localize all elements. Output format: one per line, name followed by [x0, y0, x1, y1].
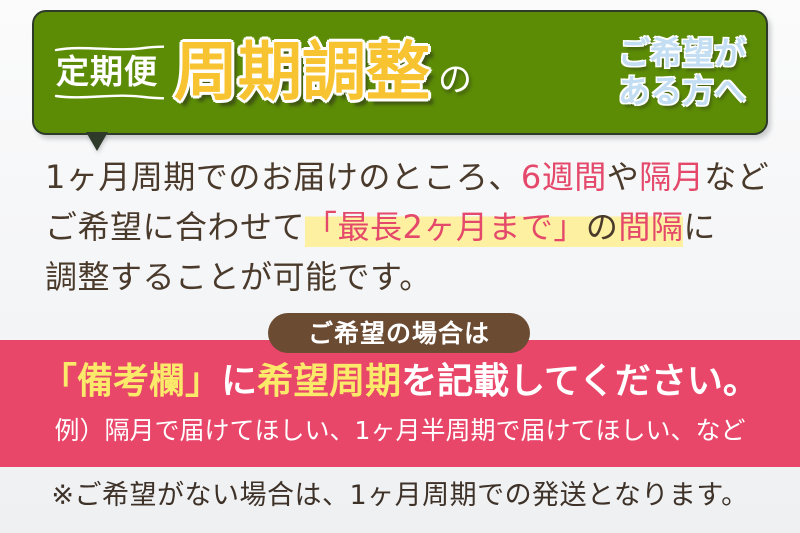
header-subtitle-group: ご希望が ある方へ [618, 35, 752, 109]
instruction-seg2: に [221, 361, 257, 402]
body-line1-seg3: や [607, 158, 640, 196]
body-line1-accent-everyothermonth: 隔月 [639, 158, 704, 196]
header-banner: 定期便 周期調整 の ご希望が ある方へ [32, 10, 768, 135]
subscription-tag-label: 定期便 [56, 55, 158, 88]
wave-rule-top-icon [54, 44, 164, 53]
instruction-emphasis-remarks: 「備考欄」 [41, 361, 221, 402]
body-line-2: ご希望に合わせて「最長2ヶ月まで」の間隔に [45, 202, 765, 252]
body-line1-seg5: など [704, 158, 769, 196]
instruction-emphasis-cycle: 希望周期 [257, 361, 401, 402]
body-line1-accent-6weeks: 6週間 [521, 158, 607, 196]
body-paragraph: 1ヶ月周期でのお届けのところ、6週間や隔月など ご希望に合わせて「最長2ヶ月まで… [45, 152, 765, 302]
body-line2-highlight-interval: 間隔 [618, 208, 683, 247]
instruction-band: 「備考欄」に希望周期を記載してください。 例）隔月で届けてほしい、1ヶ月半周期で… [0, 340, 800, 467]
instruction-headline: 「備考欄」に希望周期を記載してください。 [0, 364, 800, 400]
request-badge: ご希望の場合は [268, 313, 530, 353]
body-line2-seg5: に [683, 208, 716, 246]
header-title-particle: の [438, 63, 472, 97]
body-line2-seg1: ご希望に合わせて [45, 208, 305, 246]
speech-bubble-tail-icon [88, 134, 106, 150]
body-line-1: 1ヶ月周期でのお届けのところ、6週間や隔月など [45, 152, 765, 202]
subscription-tag: 定期便 [52, 44, 162, 101]
header-title: 周期調整 [174, 41, 430, 105]
footer-note: ※ご希望がない場合は、1ヶ月周期での発送となります。 [0, 482, 800, 509]
body-line1-seg1: 1ヶ月周期でのお届けのところ、 [45, 158, 521, 196]
body-line2-highlight-maxtwomonths: 「最長2ヶ月まで」 [305, 208, 586, 247]
header-subtitle-line2: ある方へ [618, 73, 746, 110]
instruction-examples: 例）隔月で届けてほしい、1ヶ月半周期で届けてほしい、など [0, 418, 800, 443]
body-line-3: 調整することが可能です。 [45, 252, 765, 302]
header-subtitle-line1: ご希望が [618, 35, 746, 72]
body-line2-seg3: の [586, 208, 619, 247]
wave-rule-bottom-icon [54, 92, 164, 101]
request-badge-label: ご希望の場合は [308, 321, 490, 346]
instruction-seg4: を記載してください。 [401, 361, 759, 402]
